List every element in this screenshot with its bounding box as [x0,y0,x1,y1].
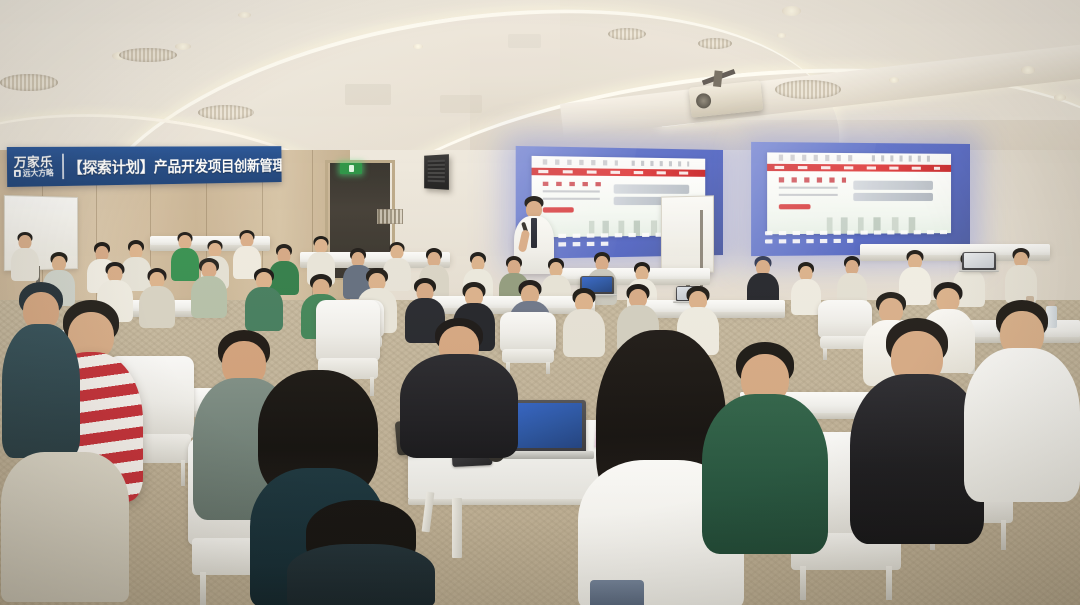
downlight-icon [889,77,899,83]
banner-title: 【探索计划】产品开发项目创新管理训练营 [68,153,282,178]
audience-member [244,268,284,328]
downlight-icon [777,33,786,38]
right-projection-screen [751,142,970,256]
air-vent-icon [608,28,646,40]
downlight-icon [1021,66,1035,74]
audience-member [1004,248,1038,302]
table-leg [452,498,462,558]
wall-plaque [377,209,403,224]
audience-member [962,300,1080,510]
wall-mounted-speaker [424,154,449,190]
downlight-icon [175,43,191,50]
slide-hero [767,171,951,234]
downlight-icon [238,12,251,18]
laptop-screen [962,252,996,270]
logo-line-2: 远大方略 [14,169,54,178]
air-vent-icon [0,74,58,91]
air-vent-icon [698,38,732,49]
slide-cta-button [778,204,810,209]
exit-sign-icon [340,163,362,174]
audience-member [10,232,40,280]
logo-line-1: 万家乐 [14,156,54,169]
projector-lens-icon [695,93,711,109]
audience-member [286,500,436,605]
flipchart-right [661,195,714,272]
laptop[interactable] [962,252,996,276]
downlight-icon [782,6,801,16]
air-vent-icon [119,48,177,62]
logo-mark-icon [14,170,21,177]
denim-clothing [590,580,644,605]
event-banner: 万家乐 远大方略 【探索计划】产品开发项目创新管理训练营 第二期 [7,146,282,187]
air-vent-icon [775,80,841,99]
projector-mount-pole [713,70,723,87]
presenter-tie [531,218,537,248]
audience-member [0,430,130,605]
right-slide-content [767,152,951,234]
company-logo: 万家乐 远大方略 [7,156,59,178]
ceiling-tile [345,84,391,105]
air-vent-icon [198,105,254,120]
banner-divider [62,154,64,179]
downlight-icon [413,44,423,49]
laptop-keyboard [959,270,999,273]
audience-member-green-shirt [700,342,830,557]
audience-member [190,258,228,316]
slide-topbar [767,152,951,164]
ceiling-tile [508,34,541,48]
downlight-icon [1054,94,1066,101]
ceiling-tile [440,95,482,113]
conference-room-photo: 万家乐 远大方略 【探索计划】产品开发项目创新管理训练营 第二期 [0,0,1080,605]
audience-member [398,318,520,458]
